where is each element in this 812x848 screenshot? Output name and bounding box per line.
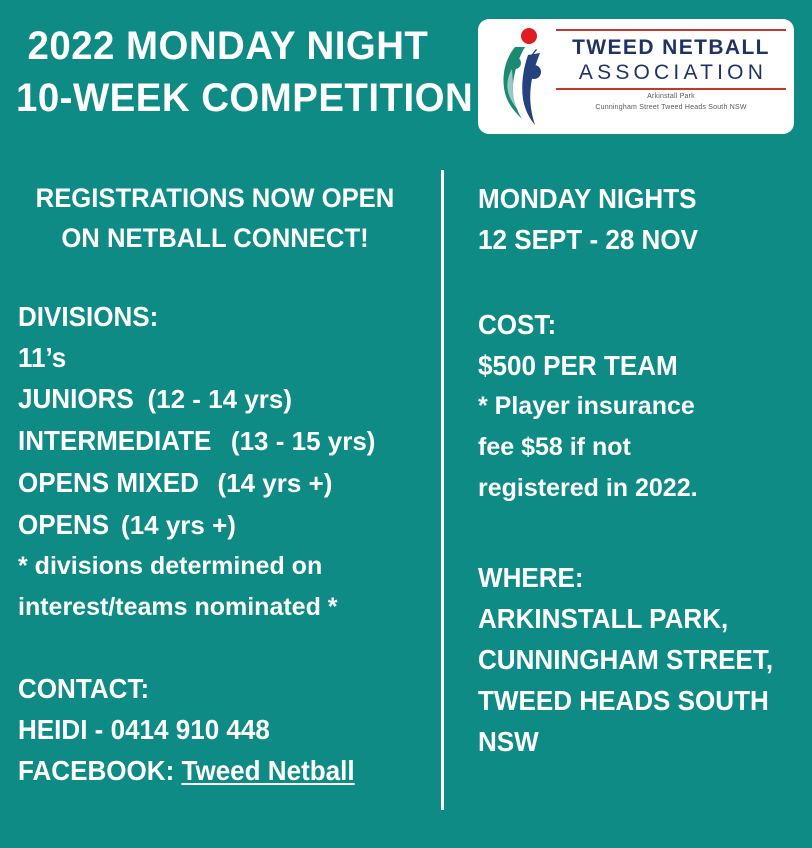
cost-value: $500 PER TEAM <box>478 345 785 386</box>
logo-address-line-1: Arkinstall Park <box>556 90 786 101</box>
divisions-note-line-1: * divisions determined on <box>18 546 430 587</box>
facebook-link[interactable]: Tweed Netball <box>181 755 354 786</box>
left-column: REGISTRATIONS NOW OPEN ON NETBALL CONNEC… <box>0 178 430 791</box>
where-line-3: TWEED HEADS SOUTH <box>478 680 785 721</box>
netball-player-emblem-icon <box>492 25 554 129</box>
cost-note-line-1: * Player insurance <box>478 386 808 427</box>
registrations-heading-line-1: REGISTRATIONS NOW OPEN <box>24 178 406 218</box>
cost-section: COST: $500 PER TEAM * Player insurance f… <box>478 304 808 509</box>
where-line-4: NSW <box>478 721 785 762</box>
cost-note-line-3: registered in 2022. <box>478 468 808 509</box>
title-line-1: 2022 MONDAY NIGHT <box>16 20 448 72</box>
contact-label: CONTACT: <box>18 668 401 709</box>
logo-rule-top <box>556 29 786 31</box>
spacer <box>478 260 808 304</box>
division-item: INTERMEDIATE(13 - 15 yrs) <box>18 420 430 462</box>
cost-note-line-2: fee $58 if not <box>478 427 808 468</box>
divisions-section: DIVISIONS: 11’s JUNIORS(12 - 14 yrs) INT… <box>0 296 430 628</box>
column-divider <box>441 170 444 810</box>
when-line-2: 12 SEPT - 28 NOV <box>478 219 785 260</box>
division-item: OPENS(14 yrs +) <box>18 504 430 546</box>
where-line-2: CUNNINGHAM STREET, <box>478 639 785 680</box>
division-item: JUNIORS(12 - 14 yrs) <box>18 378 430 420</box>
poster-canvas: 2022 MONDAY NIGHT 10-WEEK COMPETITION <box>0 0 812 848</box>
spacer <box>478 509 808 557</box>
division-item: OPENS MIXED(14 yrs +) <box>18 462 430 504</box>
poster-header: 2022 MONDAY NIGHT 10-WEEK COMPETITION <box>0 0 812 152</box>
logo-subtitle: ASSOCIATION <box>556 60 786 85</box>
where-line-1: ARKINSTALL PARK, <box>478 598 785 639</box>
schedule-section: MONDAY NIGHTS 12 SEPT - 28 NOV <box>478 178 808 260</box>
facebook-label: FACEBOOK: <box>18 755 174 786</box>
facebook-row: FACEBOOK: Tweed Netball <box>18 750 401 791</box>
tweed-netball-association-logo: TWEED NETBALL ASSOCIATION Arkinstall Par… <box>478 19 794 134</box>
divisions-note-line-2: interest/teams nominated * <box>18 587 430 628</box>
divisions-label: DIVISIONS: <box>18 296 430 337</box>
registrations-heading: REGISTRATIONS NOW OPEN ON NETBALL CONNEC… <box>0 178 430 258</box>
division-item: 11’s <box>18 337 430 378</box>
venue-section: WHERE: ARKINSTALL PARK, CUNNINGHAM STREE… <box>478 557 808 762</box>
contact-section: CONTACT: HEIDI - 0414 910 448 FACEBOOK: … <box>0 668 430 791</box>
logo-text-area: TWEED NETBALL ASSOCIATION Arkinstall Par… <box>556 29 786 130</box>
logo-address-line-2: Cunningham Street Tweed Heads South NSW <box>556 101 786 112</box>
registrations-heading-line-2: ON NETBALL CONNECT! <box>24 218 406 258</box>
where-label: WHERE: <box>478 557 785 598</box>
when-line-1: MONDAY NIGHTS <box>478 178 785 219</box>
title-line-2: 10-WEEK COMPETITION <box>16 72 448 124</box>
contact-person: HEIDI - 0414 910 448 <box>18 709 401 750</box>
cost-label: COST: <box>478 304 785 345</box>
logo-name: TWEED NETBALL <box>556 35 786 60</box>
page-title: 2022 MONDAY NIGHT 10-WEEK COMPETITION <box>16 20 466 124</box>
right-column: MONDAY NIGHTS 12 SEPT - 28 NOV COST: $50… <box>478 178 808 762</box>
